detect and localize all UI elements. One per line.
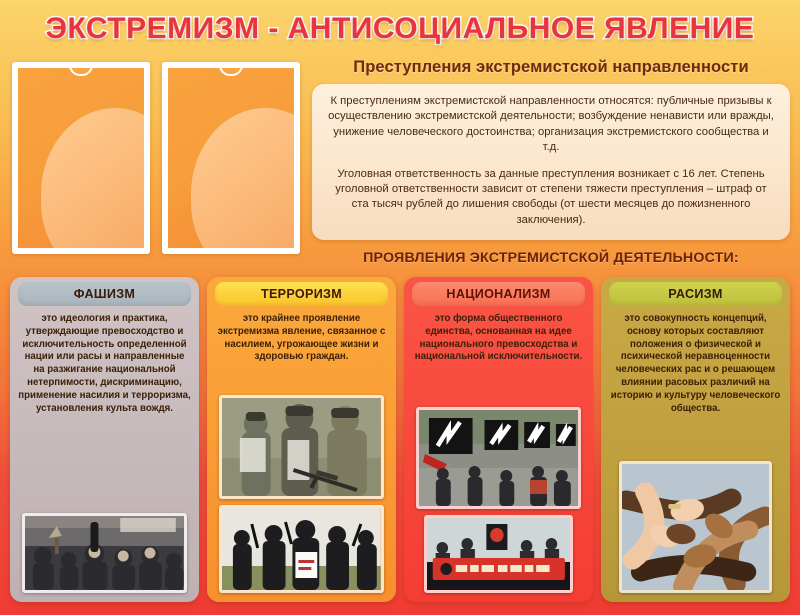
card-text-nationalism: это форма общественного единства, основа… xyxy=(404,306,593,364)
interlocked-arms-photo xyxy=(619,461,772,593)
photo-frame-group xyxy=(12,62,300,254)
card-text-terrorism: это крайнее проявление экстремизма явлен… xyxy=(207,306,396,364)
info-paragraph-2: Уголовная ответственность за данные прес… xyxy=(328,167,774,229)
card-photos-fascism xyxy=(10,421,199,595)
manifestation-cards: ФАШИЗМ это идеология и практика, утвержд… xyxy=(10,277,790,602)
card-text-fascism: это идеология и практика, утверждающие п… xyxy=(10,306,199,415)
photo-frame-right xyxy=(162,62,300,254)
poster-root: ЭКСТРЕМИЗМ - АНТИСОЦИАЛЬНОЕ ЯВЛЕНИЕ Прес… xyxy=(0,0,800,615)
masked-gunmen-photo xyxy=(219,505,384,593)
page-title: ЭКСТРЕМИЗМ - АНТИСОЦИАЛЬНОЕ ЯВЛЕНИЕ xyxy=(46,12,755,46)
info-block: Преступления экстремистской направленнос… xyxy=(312,58,790,240)
card-title-nationalism: НАЦИОНАЛИЗМ xyxy=(412,282,586,306)
section-heading: ПРОЯВЛЕНИЯ ЭКСТРЕМИСТСКОЙ ДЕЯТЕЛЬНОСТИ: xyxy=(312,250,790,266)
protest-banner-photo xyxy=(424,515,574,593)
card-title-fascism: ФАШИЗМ xyxy=(18,282,192,306)
card-photos-racism xyxy=(601,421,790,595)
poster-title-bar: ЭКСТРЕМИЗМ - АНТИСОЦИАЛЬНОЕ ЯВЛЕНИЕ xyxy=(0,0,800,57)
crowd-rally-photo xyxy=(22,513,187,593)
card-fascism: ФАШИЗМ это идеология и практика, утвержд… xyxy=(10,277,199,602)
info-paragraph-1: К преступлениям экстремистской направлен… xyxy=(328,94,774,156)
armed-militants-photo xyxy=(219,395,384,499)
card-photos-terrorism xyxy=(207,370,396,595)
frame-notch-icon xyxy=(69,62,93,76)
photo-frame-left xyxy=(12,62,150,254)
card-nationalism: НАЦИОНАЛИЗМ это форма общественного един… xyxy=(404,277,593,602)
card-racism: РАСИЗМ это совокупность концепций, основ… xyxy=(601,277,790,602)
card-title-terrorism: ТЕРРОРИЗМ xyxy=(215,282,389,306)
card-title-racism: РАСИЗМ xyxy=(609,282,783,306)
card-photos-nationalism xyxy=(404,370,593,595)
info-heading: Преступления экстремистской направленнос… xyxy=(312,58,790,77)
nationalist-flag-march-photo xyxy=(416,407,581,509)
card-text-racism: это совокупность концепций, основу котор… xyxy=(601,306,790,415)
info-panel: К преступлениям экстремистской направлен… xyxy=(312,84,790,240)
frame-notch-icon xyxy=(219,62,243,76)
card-terrorism: ТЕРРОРИЗМ это крайнее проявление экстрем… xyxy=(207,277,396,602)
